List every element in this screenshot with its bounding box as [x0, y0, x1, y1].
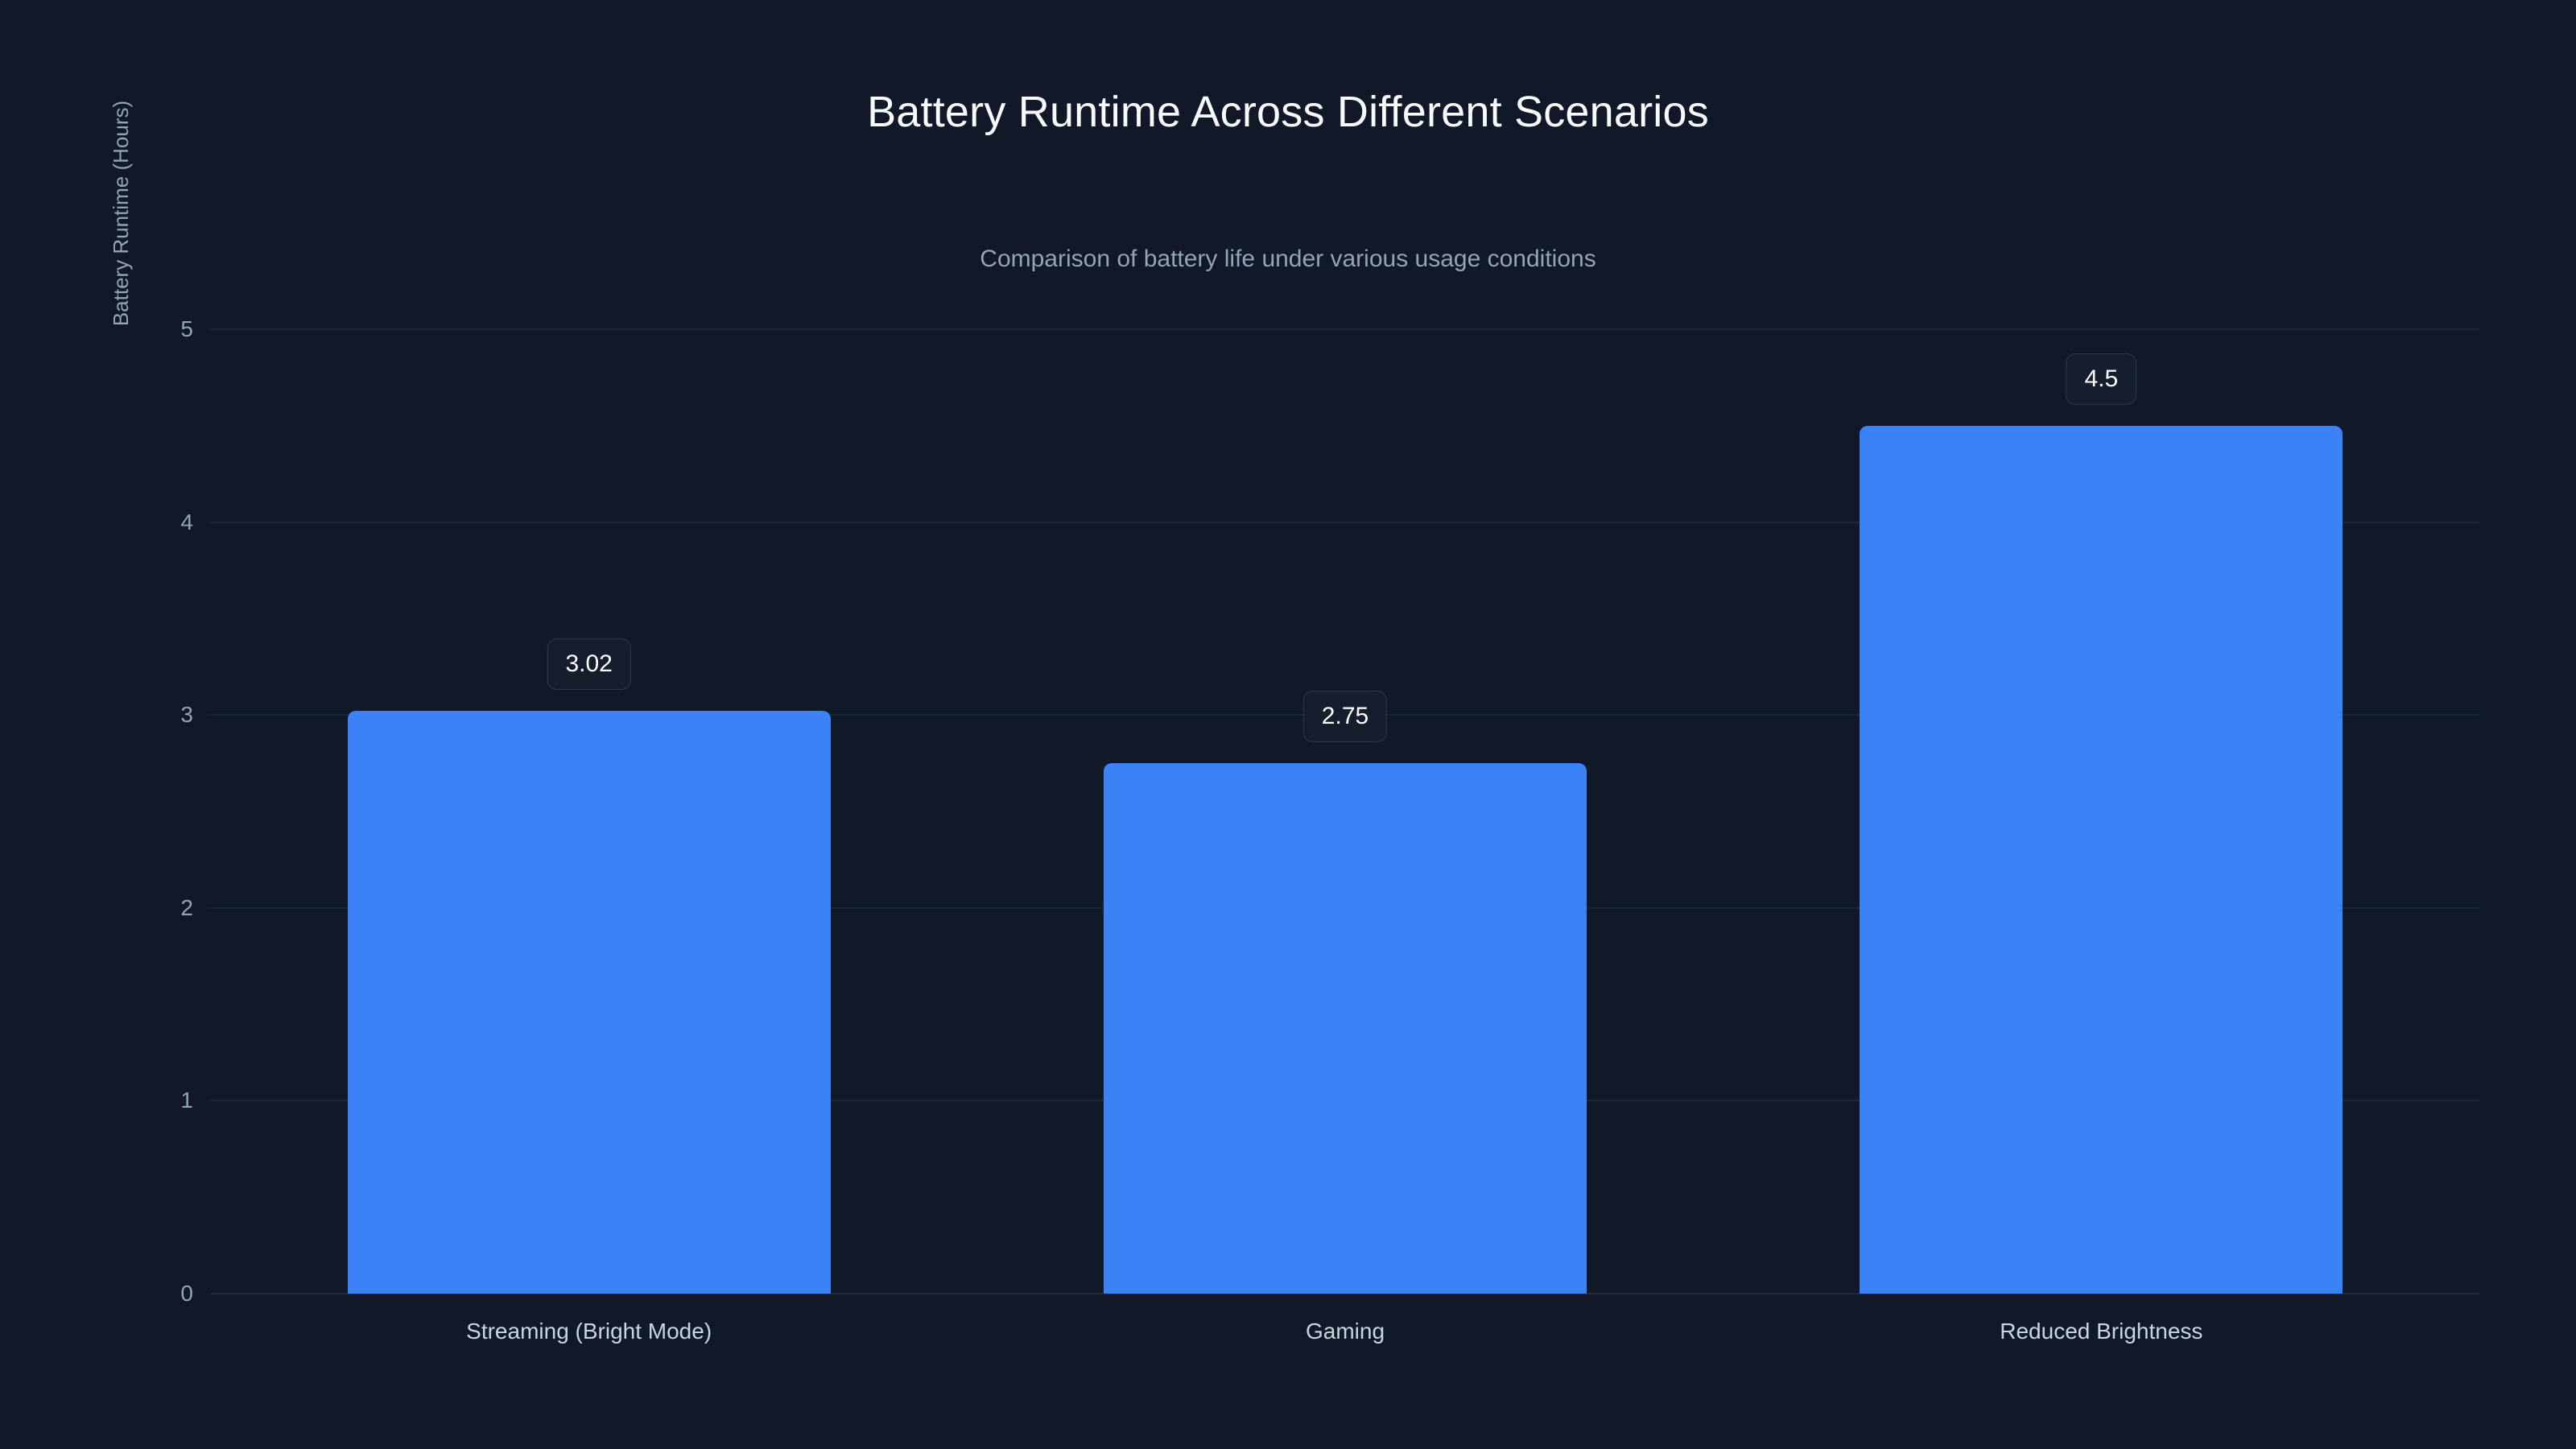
bar-value-label: 2.75	[1303, 691, 1387, 742]
chart-subtitle: Comparison of battery life under various…	[0, 246, 2576, 272]
x-tick-label: Gaming	[1306, 1320, 1385, 1343]
x-tick-label: Reduced Brightness	[2000, 1320, 2202, 1343]
y-tick-label: 0	[121, 1282, 193, 1305]
y-tick-label: 2	[121, 897, 193, 919]
x-tick-label: Streaming (Bright Mode)	[466, 1320, 712, 1343]
bar-value-label: 3.02	[547, 638, 630, 690]
bar-value-label: 4.5	[2066, 353, 2136, 405]
bar-chart-canvas: Battery Runtime Across Different Scenari…	[0, 0, 2576, 1449]
chart-title: Battery Runtime Across Different Scenari…	[0, 89, 2576, 136]
y-tick-label: 5	[121, 318, 193, 341]
bar[interactable]	[1860, 426, 2343, 1294]
y-tick-label: 4	[121, 511, 193, 534]
gridline	[211, 328, 2479, 330]
y-axis-title: Battery Runtime (Hours)	[101, 0, 141, 938]
bar[interactable]	[1104, 763, 1587, 1294]
plot-area	[211, 329, 2479, 1294]
y-tick-label: 1	[121, 1089, 193, 1112]
y-tick-label: 3	[121, 704, 193, 726]
bar[interactable]	[348, 711, 831, 1294]
